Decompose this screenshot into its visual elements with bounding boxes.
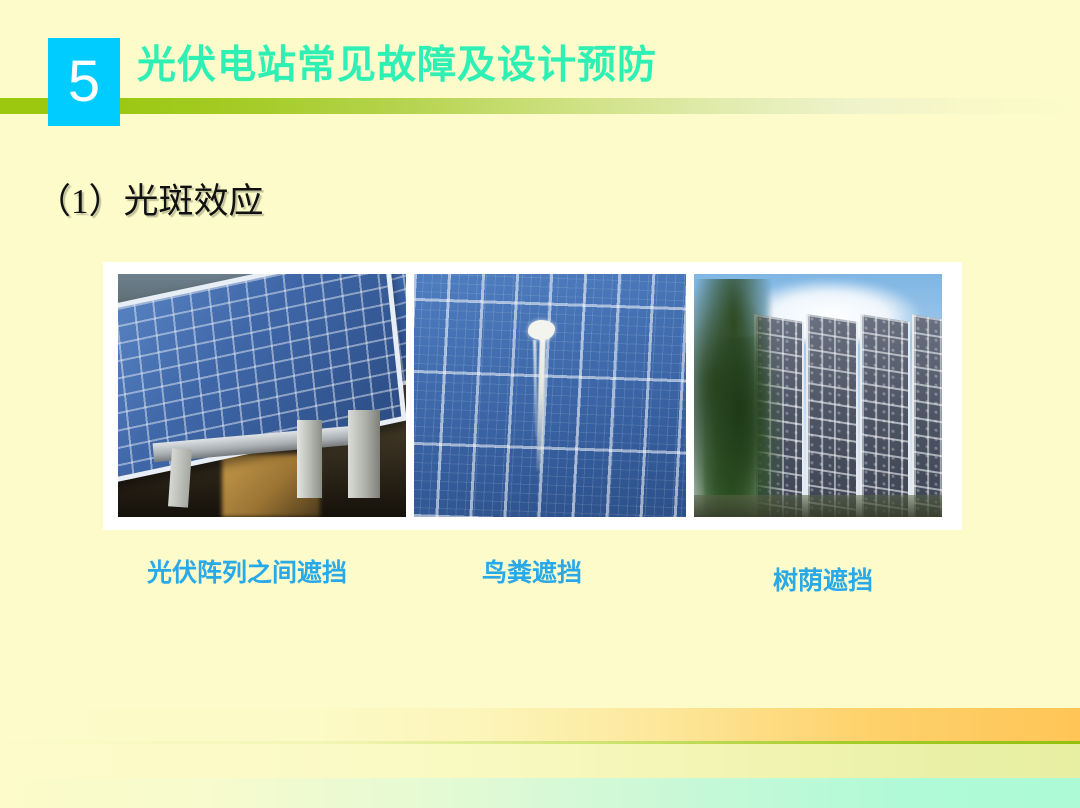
- photo-1-post-mid: [297, 420, 323, 498]
- photo-1-post-left: [168, 448, 192, 508]
- photo-3-content: [694, 274, 942, 517]
- figure-panel: [103, 262, 962, 530]
- photo-3-ground: [694, 495, 942, 517]
- footer-mint-band: [0, 778, 1080, 808]
- header-rule-left: [0, 98, 48, 114]
- footer-olive-band: [0, 744, 1080, 778]
- photo-3-module-3: [860, 314, 910, 517]
- photo-pv-array-shading: [118, 274, 406, 517]
- photo-3-tree-secondary: [704, 337, 773, 517]
- photo-tree-shading: [694, 274, 942, 517]
- figure-caption-3: 树荫遮挡: [773, 566, 873, 598]
- header-rule-right: [120, 98, 1080, 114]
- section-number-badge: 5: [48, 38, 120, 126]
- photo-1-post-right: [348, 410, 380, 497]
- figure-caption-1: 光伏阵列之间遮挡: [147, 558, 347, 590]
- section-heading: （1）光斑效应: [36, 178, 264, 226]
- slide-header: 5 光伏电站常见故障及设计预防: [0, 0, 1080, 140]
- photo-2-dropping-blob: [528, 320, 555, 339]
- photo-bird-dropping-shading: [414, 274, 686, 517]
- photo-1-content: [118, 274, 406, 517]
- photo-3-module-4: [912, 314, 942, 517]
- footer-orange-band: [0, 708, 1080, 741]
- photo-3-module-2: [806, 314, 858, 517]
- photo-2-content: [414, 274, 686, 517]
- photo-2-cell-grid: [414, 274, 686, 517]
- slide-canvas: 5 光伏电站常见故障及设计预防 （1）光斑效应: [0, 0, 1080, 808]
- page-title: 光伏电站常见故障及设计预防: [137, 40, 657, 92]
- figure-caption-2: 鸟粪遮挡: [482, 558, 582, 590]
